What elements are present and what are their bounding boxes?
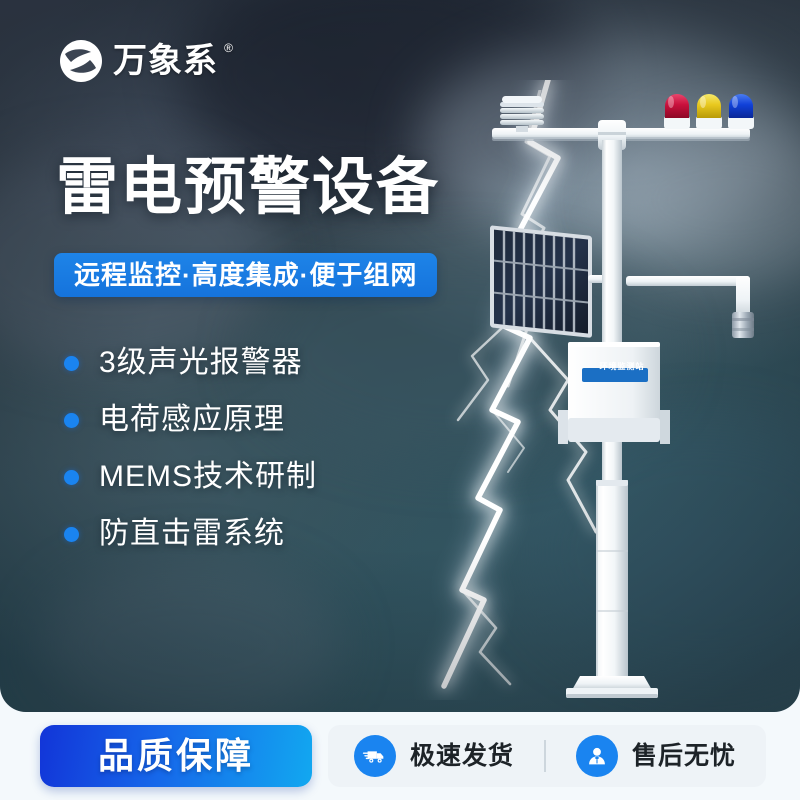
- bullet-dot-icon: [64, 470, 79, 485]
- service-item-after-sales: 售后无忧: [576, 735, 736, 777]
- alarm-beacon-cluster: [664, 94, 754, 129]
- subtitle-text: 远程监控·高度集成·便于组网: [74, 262, 417, 288]
- blue-beacon: [728, 94, 754, 129]
- trust-bar: 品质保障 极速发货: [0, 712, 800, 800]
- base-flange: [566, 676, 658, 698]
- bullet-dot-icon: [64, 356, 79, 371]
- brand-name-wrap: 万象系 ®: [113, 44, 218, 78]
- service-divider: [544, 740, 546, 772]
- control-enclosure: [558, 342, 670, 444]
- yellow-beacon: [696, 94, 722, 129]
- subtitle-badge: 远程监控·高度集成·便于组网: [54, 253, 437, 297]
- feature-label: 电荷感应原理: [99, 405, 285, 435]
- service-label: 极速发货: [410, 744, 514, 769]
- radiation-shield-sensor: [500, 96, 544, 132]
- red-beacon: [664, 94, 690, 129]
- brand-name: 万象系: [113, 42, 218, 80]
- brand-logo: 万象系 ®: [58, 38, 218, 84]
- solar-panel: [490, 225, 612, 338]
- product-poster: 环境监测站 万象系 ® 雷电预警设备 远程监控·高度集成·便于组网 3级声光报警…: [0, 0, 800, 800]
- brand-swirl-icon: [58, 38, 104, 84]
- list-item: 电荷感应原理: [64, 405, 317, 435]
- enclosure-label-text-wrap: 环境监测站: [589, 360, 655, 374]
- feature-label: 防直击雷系统: [99, 519, 285, 549]
- delivery-truck-icon: [354, 735, 396, 777]
- registered-trademark-mark: ®: [224, 42, 234, 54]
- bullet-dot-icon: [64, 413, 79, 428]
- lightning-warning-device: [440, 80, 800, 700]
- list-item: MEMS技术研制: [64, 462, 317, 492]
- feature-label: MEMS技术研制: [99, 462, 317, 492]
- quality-guarantee-label: 品质保障: [98, 738, 254, 774]
- feature-label: 3级声光报警器: [99, 348, 303, 378]
- quality-guarantee-badge: 品质保障: [40, 725, 312, 787]
- customer-service-icon: [576, 735, 618, 777]
- list-item: 3级声光报警器: [64, 348, 317, 378]
- page-title: 雷电预警设备: [56, 157, 440, 219]
- service-promise-card: 极速发货 售后无忧: [328, 725, 766, 787]
- field-mill-sensor: [732, 312, 754, 338]
- enclosure-label-text: 环境监测站: [600, 363, 645, 371]
- service-item-fast-shipping: 极速发货: [354, 735, 514, 777]
- field-mill-sensor-arm: [626, 276, 754, 338]
- feature-list: 3级声光报警器 电荷感应原理 MEMS技术研制 防直击雷系统: [64, 348, 317, 549]
- list-item: 防直击雷系统: [64, 519, 317, 549]
- bullet-dot-icon: [64, 527, 79, 542]
- service-label: 售后无忧: [632, 744, 736, 769]
